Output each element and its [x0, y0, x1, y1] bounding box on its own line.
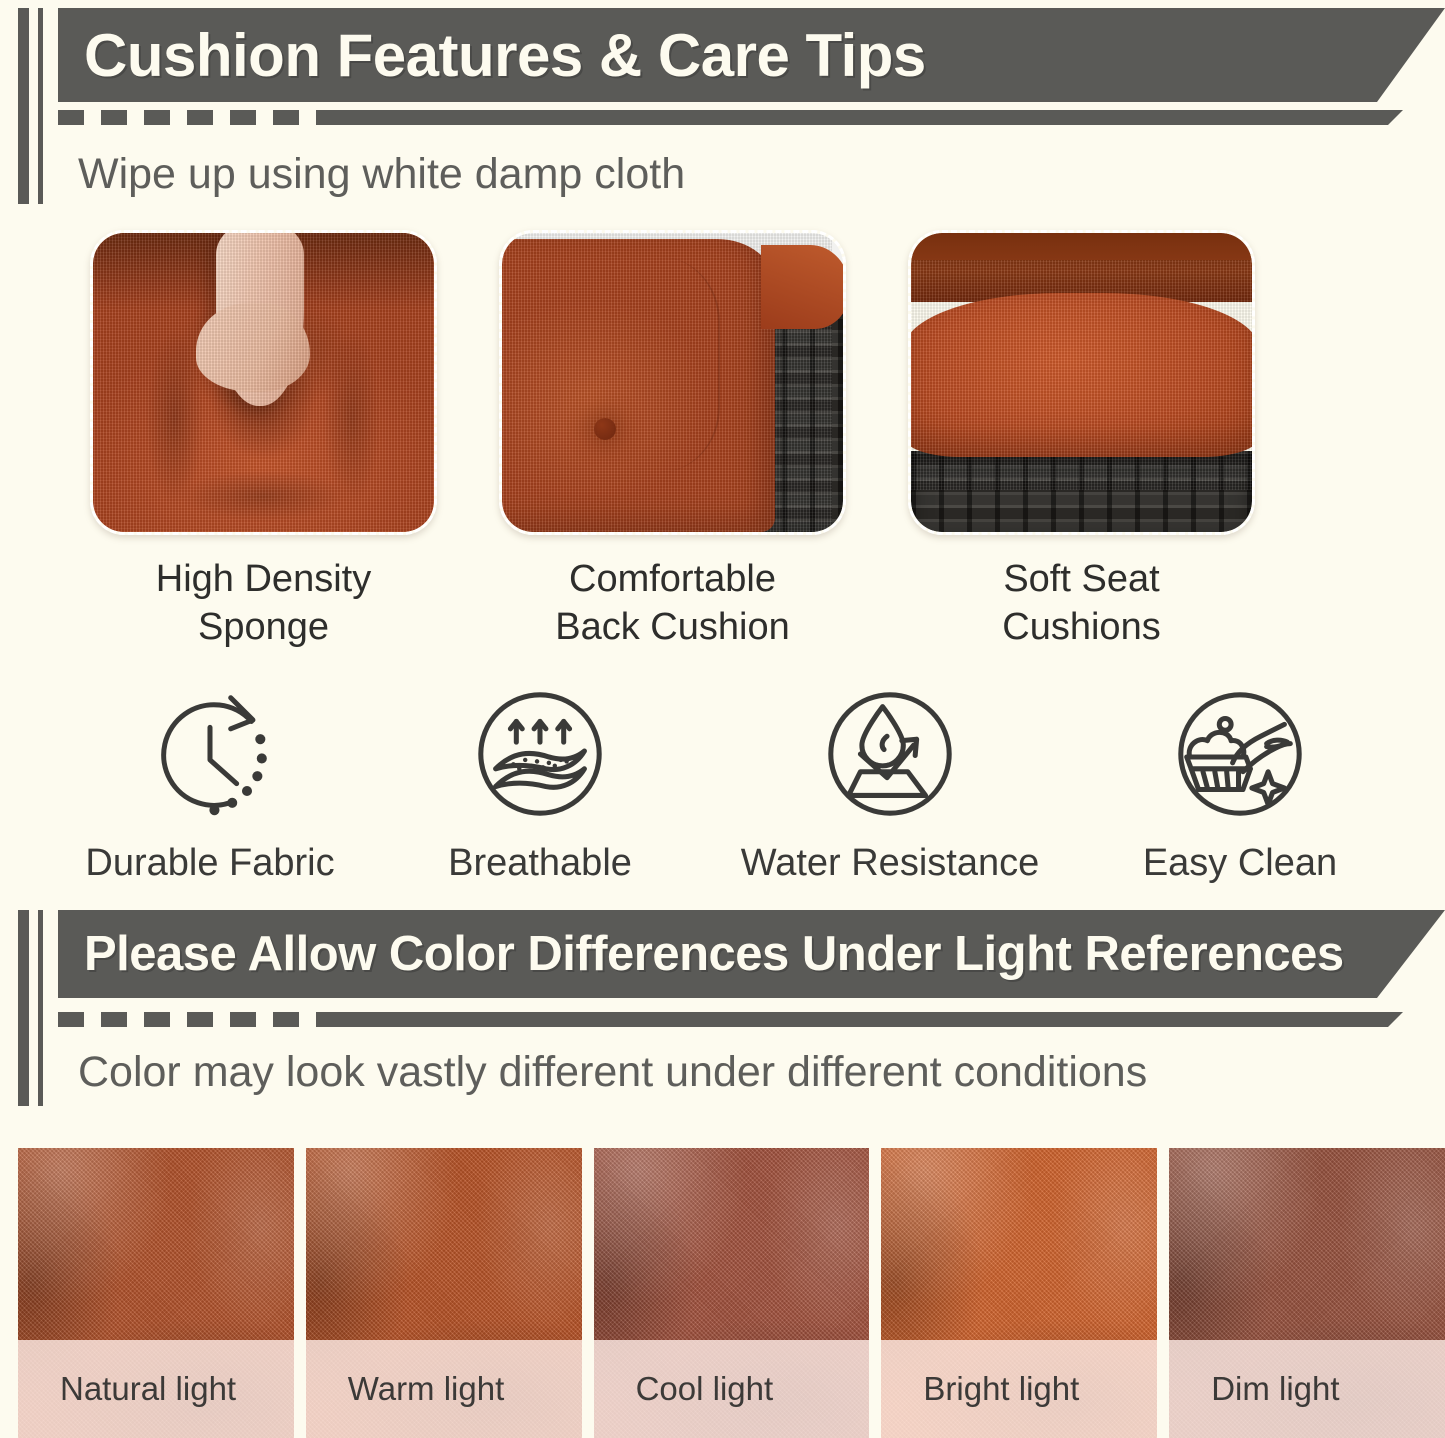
- feature-label: Water Resistance: [741, 842, 1039, 885]
- water-droplet-repel-icon: [812, 676, 968, 832]
- caption-line-2: Cushions: [908, 603, 1255, 651]
- dash-segment: [144, 110, 170, 125]
- dash-segment: [273, 1012, 299, 1027]
- photo-card-soft-seat-cushions: Soft Seat Cushions: [908, 230, 1255, 652]
- wicker-texture: [911, 451, 1252, 532]
- feature-label: Breathable: [448, 842, 632, 885]
- swatch-label: Bright light: [881, 1370, 1079, 1408]
- swatch-label: Natural light: [18, 1370, 236, 1408]
- photo-card-high-density-sponge: High Density Sponge: [90, 230, 437, 652]
- section-two-banner-title: Please Allow Color Differences Under Lig…: [58, 926, 1344, 982]
- photo-caption: Comfortable Back Cushion: [499, 555, 846, 652]
- color-swatch-row: Natural light Warm light Cool light Br: [18, 1148, 1445, 1438]
- photo-caption: Soft Seat Cushions: [908, 555, 1255, 652]
- seat-cushion-body: [911, 293, 1252, 457]
- section-one-banner-title: Cushion Features & Care Tips: [58, 21, 926, 90]
- swatch-bright-light: Bright light: [881, 1148, 1157, 1438]
- feature-item-easy-clean: Easy Clean: [1090, 676, 1390, 885]
- swatch-cool-light: Cool light: [594, 1148, 870, 1438]
- swatch-label-bar: Cool light: [594, 1340, 870, 1438]
- swatch-label-bar: Dim light: [1169, 1340, 1445, 1438]
- caption-line-1: High Density: [90, 555, 437, 603]
- dash-rule-solid: [316, 110, 1403, 125]
- feature-item-breathable: Breathable: [390, 676, 690, 885]
- dash-segment: [144, 1012, 170, 1027]
- caption-line-1: Comfortable: [499, 555, 846, 603]
- swatch-label-bar: Warm light: [306, 1340, 582, 1438]
- swatch-natural-light: Natural light: [18, 1148, 294, 1438]
- back-cushion-photo: [499, 230, 846, 535]
- swatch-label-bar: Natural light: [18, 1340, 294, 1438]
- caption-line-2: Sponge: [90, 603, 437, 651]
- swatch-label: Cool light: [594, 1370, 774, 1408]
- hand-pressing-cushion-photo: [90, 230, 437, 535]
- dash-segment: [187, 110, 213, 125]
- section-two-subheading: Color may look vastly different under di…: [78, 1048, 1147, 1097]
- photo-caption: High Density Sponge: [90, 555, 437, 652]
- section-one-rail-thin: [38, 8, 43, 204]
- dash-rule-solid: [316, 1012, 1403, 1027]
- section-two-rail-thin: [38, 910, 43, 1106]
- hand-illustration: [216, 233, 305, 406]
- swatch-warm-light: Warm light: [306, 1148, 582, 1438]
- feature-item-water-resistance: Water Resistance: [720, 676, 1060, 885]
- clock-arrow-icon: [132, 676, 288, 832]
- brush-sparkle-icon: [1162, 676, 1318, 832]
- dash-segment: [230, 1012, 256, 1027]
- section-two-rail-thick: [18, 910, 29, 1106]
- section-one-banner: Cushion Features & Care Tips: [58, 8, 1445, 102]
- feature-photo-row: High Density Sponge Comfortable: [90, 230, 1355, 652]
- feature-label: Easy Clean: [1143, 842, 1337, 885]
- dash-segment: [58, 1012, 84, 1027]
- feature-icon-row: Durable Fabric: [60, 676, 1390, 885]
- swatch-dim-light: Dim light: [1169, 1148, 1445, 1438]
- feature-item-durable-fabric: Durable Fabric: [60, 676, 360, 885]
- infographic-page: Cushion Features & Care Tips Wipe up usi…: [0, 0, 1445, 1438]
- dash-segment: [230, 110, 256, 125]
- feature-label: Durable Fabric: [85, 842, 334, 885]
- swatch-label: Warm light: [306, 1370, 504, 1408]
- section-one-dash-rule: [58, 110, 1403, 125]
- dash-segment: [101, 1012, 127, 1027]
- caption-line-1: Soft Seat: [908, 555, 1255, 603]
- section-two-banner: Please Allow Color Differences Under Lig…: [58, 910, 1445, 998]
- photo-card-comfortable-back-cushion: Comfortable Back Cushion: [499, 230, 846, 652]
- dash-segment: [273, 110, 299, 125]
- swatch-label-bar: Bright light: [881, 1340, 1157, 1438]
- dash-segment: [187, 1012, 213, 1027]
- dash-segment: [101, 110, 127, 125]
- seat-cushion-photo: [908, 230, 1255, 535]
- caption-line-2: Back Cushion: [499, 603, 846, 651]
- dash-segment: [58, 110, 84, 125]
- section-one-rail-thick: [18, 8, 29, 204]
- section-one-subheading: Wipe up using white damp cloth: [78, 150, 685, 199]
- breathable-fabric-icon: [462, 676, 618, 832]
- section-two-dash-rule: [58, 1012, 1403, 1027]
- swatch-label: Dim light: [1169, 1370, 1339, 1408]
